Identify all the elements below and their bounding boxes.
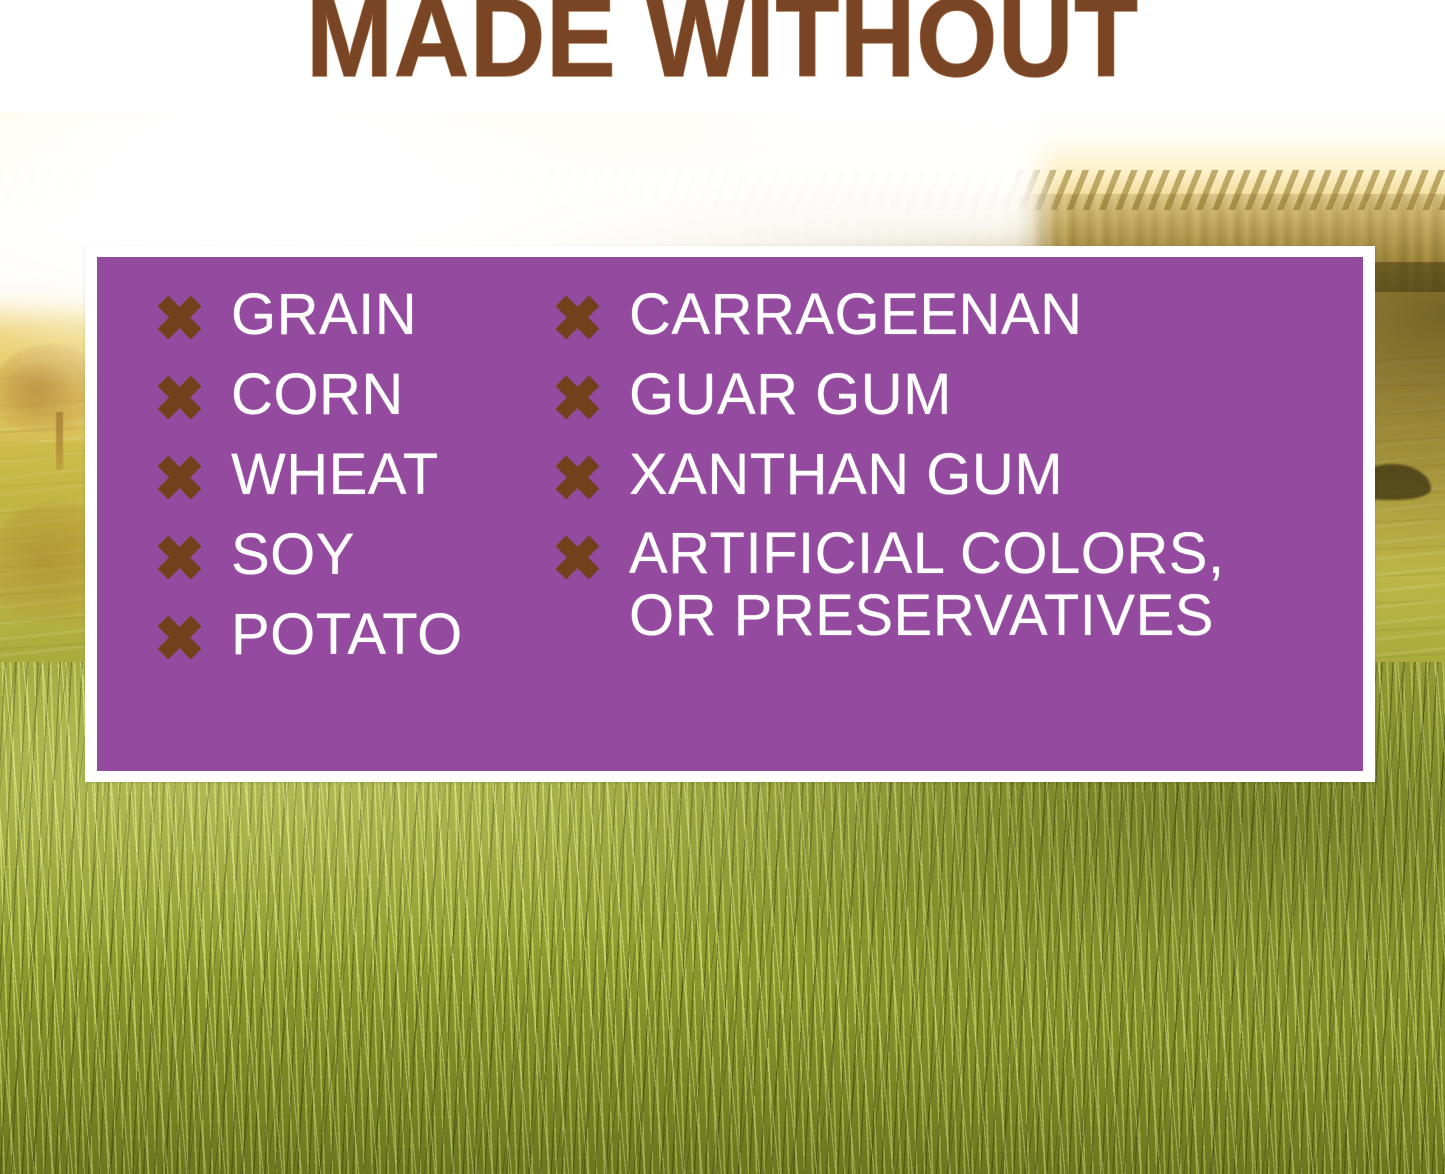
made-without-panel-border: GRAIN CORN WHEAT SOY POTATO bbox=[85, 246, 1375, 782]
x-mark-icon bbox=[157, 615, 201, 659]
list-item-carrageenan: CARRAGEENAN bbox=[555, 283, 1082, 346]
x-mark-icon bbox=[555, 295, 599, 339]
x-mark-icon bbox=[555, 535, 599, 579]
list-item-label: WHEAT bbox=[231, 443, 439, 506]
list-item-label-line1: ARTIFICIAL COLORS, bbox=[629, 521, 1225, 586]
list-item-soy: SOY bbox=[157, 523, 355, 586]
x-mark-icon bbox=[157, 295, 201, 339]
x-mark-icon bbox=[555, 455, 599, 499]
lone-tree-canopy-inner-icon bbox=[6, 364, 68, 416]
list-item-xanthan-gum: XANTHAN GUM bbox=[555, 443, 1063, 506]
page-title: MADE WITHOUT bbox=[51, 0, 1395, 94]
list-item-grain: GRAIN bbox=[157, 283, 417, 346]
list-item-artificial-colors-preservatives: ARTIFICIAL COLORS, OR PRESERVATIVES bbox=[555, 523, 1225, 647]
product-feature-image: MADE WITHOUT GRAIN CORN WHEAT bbox=[0, 0, 1445, 1174]
list-item-label: CARRAGEENAN bbox=[629, 283, 1082, 346]
list-item-label: GUAR GUM bbox=[629, 363, 952, 426]
list-item-label: GRAIN bbox=[231, 283, 417, 346]
list-item-potato: POTATO bbox=[157, 603, 463, 666]
list-item-label: SOY bbox=[231, 523, 355, 586]
list-item-label-line2: OR PRESERVATIVES bbox=[629, 585, 1225, 647]
list-item-wheat: WHEAT bbox=[157, 443, 439, 506]
list-item-label: POTATO bbox=[231, 603, 463, 666]
x-mark-icon bbox=[157, 455, 201, 499]
list-item-label: CORN bbox=[231, 363, 404, 426]
list-item-corn: CORN bbox=[157, 363, 404, 426]
list-item-label: ARTIFICIAL COLORS, OR PRESERVATIVES bbox=[629, 523, 1225, 647]
x-mark-icon bbox=[555, 375, 599, 419]
list-item-guar-gum: GUAR GUM bbox=[555, 363, 952, 426]
made-without-panel: GRAIN CORN WHEAT SOY POTATO bbox=[97, 257, 1363, 771]
x-mark-icon bbox=[157, 535, 201, 579]
list-item-label: XANTHAN GUM bbox=[629, 443, 1063, 506]
x-mark-icon bbox=[157, 375, 201, 419]
lone-tree-trunk-icon bbox=[56, 412, 63, 470]
